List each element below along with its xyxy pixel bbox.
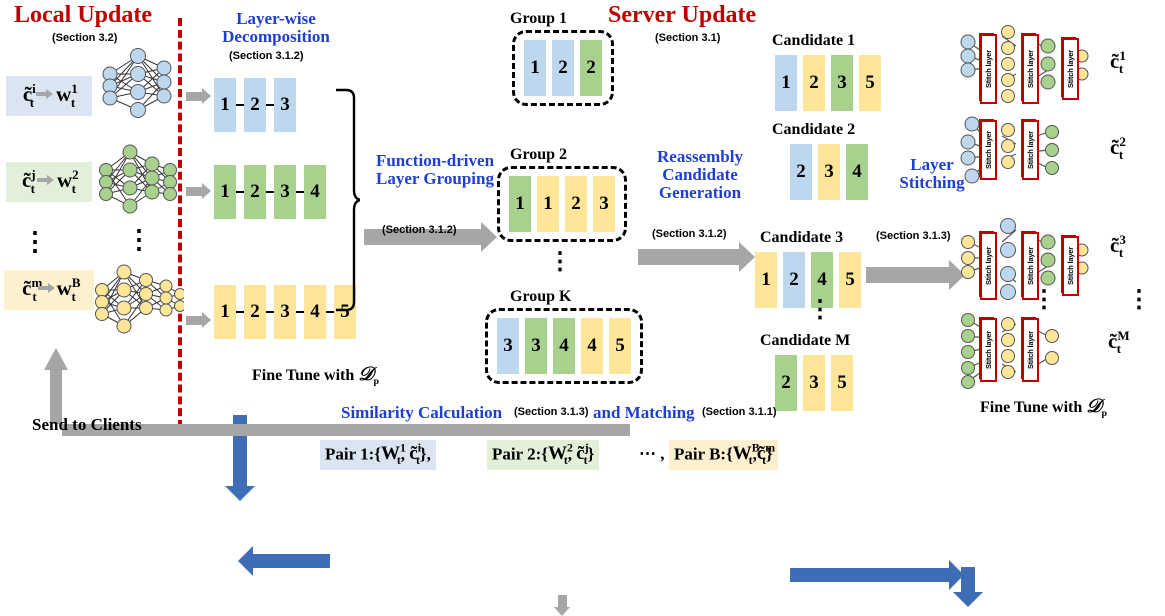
- candidate-1-title: Candidate 1: [772, 32, 855, 50]
- candidate-bar: 2: [775, 355, 797, 411]
- layer-bar: 3: [274, 285, 296, 339]
- fine-tune-right-arrow: [961, 567, 975, 593]
- stitch-layer-box: Stitch layer: [980, 318, 997, 382]
- pair-2-sep: ,: [568, 444, 577, 463]
- client-2-to-decomp-arrow: [186, 187, 202, 196]
- layer-bar: 3: [274, 78, 296, 132]
- layer-link: [236, 104, 244, 106]
- stitch-layer-label: Stitch layer: [984, 50, 993, 88]
- client-network-2: [96, 138, 180, 233]
- client-3-weight-label: wBt: [57, 275, 76, 304]
- candidate-m-title: Candidate M: [760, 332, 850, 350]
- stitched-output-vertical-ellipsis: ⋮: [1127, 296, 1151, 304]
- send-to-clients-arrow: [30, 340, 630, 455]
- fdlg-line1: Function-driven: [360, 152, 510, 170]
- stitch-layer-label: Stitch layer: [1026, 331, 1035, 369]
- stitched-output-3: c̃3t: [1110, 232, 1123, 261]
- matching-to-finetune-arrow: [790, 568, 950, 582]
- client-box-1: c̃it w1t: [6, 76, 92, 116]
- similarity-to-finetune-arrow: [252, 554, 330, 568]
- candidate-bar: 5: [831, 355, 853, 411]
- layer-bar: 1: [214, 78, 236, 132]
- layer-link: [236, 191, 244, 193]
- group-1-box: 1 2 2: [512, 30, 614, 106]
- clients-vertical-ellipsis: ⋮: [22, 238, 48, 246]
- candidate-bar: 2: [783, 252, 805, 308]
- layer-stitching-arrow: [866, 267, 950, 283]
- group-bar: 1: [524, 40, 546, 96]
- groups-vertical-ellipsis: ⋮: [548, 258, 572, 266]
- group-bar: 1: [509, 176, 531, 232]
- candidate-bar: 3: [831, 55, 853, 111]
- layer-link: [296, 191, 304, 193]
- candidate-bar: 2: [790, 144, 812, 200]
- stitch-layer-box: Stitch layer: [1022, 318, 1039, 382]
- pair-b-prefix: Pair B:{: [674, 444, 733, 463]
- layer-bar: 4: [304, 165, 326, 219]
- stitched-output-m: c̃Mt: [1108, 328, 1121, 357]
- candidate-bar: 5: [839, 252, 861, 308]
- candidate-2-title: Candidate 2: [772, 121, 855, 139]
- client-1-model-label: c̃it: [23, 81, 34, 110]
- fine-tune-right-label: Fine Tune with 𝒟p: [980, 396, 1107, 419]
- stitched-output-2: c̃2t: [1110, 134, 1123, 163]
- dataset-symbol-right: 𝒟: [1086, 396, 1101, 417]
- client-2-weight-label: w2t: [57, 167, 76, 196]
- decomposition-row-2: 1 2 3 4: [214, 165, 326, 219]
- client-3-model-label: c̃mt: [22, 275, 37, 304]
- layer-bar: 3: [274, 165, 296, 219]
- candidate-bar: 1: [755, 252, 777, 308]
- candidate-2-bars: 2 3 4: [790, 144, 868, 200]
- group-1-bars: 1 2 2: [524, 40, 602, 96]
- pair-list-ellipsis: ⋯ ,: [634, 442, 670, 466]
- reassembly-line2: Candidate: [642, 166, 758, 184]
- stitch-layer-box: Stitch layer: [980, 34, 997, 104]
- stitch-layer-box: Stitch layer: [980, 232, 997, 300]
- layer-bar: 2: [244, 78, 266, 132]
- page-title-local-update: Local Update: [14, 2, 152, 29]
- pair-box-2: Pair 2:{W2t, c̃jt}: [487, 440, 599, 470]
- client-1-to-decomp-arrow: [186, 92, 202, 101]
- client-1-weight-label: w1t: [56, 81, 75, 110]
- layer-link: [236, 311, 244, 313]
- client-box-3: c̃mt wBt: [4, 270, 94, 310]
- stitch-layer-label: Stitch layer: [984, 331, 993, 369]
- candidate-bar: 5: [859, 55, 881, 111]
- stitched-output-1: c̃1t: [1110, 48, 1123, 77]
- layer-bar: 2: [244, 285, 266, 339]
- client-box-2: c̃jt w2t: [6, 162, 92, 202]
- stitched-vertical-ellipsis: ⋮: [1032, 296, 1056, 304]
- candidates-vertical-ellipsis: ⋮: [808, 306, 832, 314]
- pair-1-sep: ,: [401, 444, 410, 463]
- stitch-layer-label: Stitch layer: [984, 131, 993, 169]
- group-2-bars: 1 1 2 3: [509, 176, 615, 232]
- group-k-title: Group K: [510, 288, 572, 306]
- layer-bar: 1: [214, 165, 236, 219]
- stitch-layer-label: Stitch layer: [1066, 247, 1075, 285]
- reassembly-line3: Generation: [642, 184, 758, 202]
- fine-tune-right-text: Fine Tune with: [980, 399, 1082, 416]
- layer-stitching-section-ref: (Section 3.1.3): [876, 230, 951, 242]
- pair-box-1: Pair 1:{W1t, c̃it},: [320, 440, 436, 470]
- decomposition-brace: [334, 88, 360, 319]
- group-bar: 1: [537, 176, 559, 232]
- pair-b-suffix: }: [766, 444, 773, 463]
- local-update-section-ref: (Section 3.2): [52, 32, 117, 44]
- pair-1-prefix: Pair 1:{: [325, 444, 381, 463]
- layer-link: [266, 104, 274, 106]
- networks-vertical-ellipsis: ⋮: [126, 236, 152, 244]
- candidate-bar: 3: [818, 144, 840, 200]
- pair-box-b: Pair B:{WBt,c̃mt}: [669, 440, 778, 470]
- group-bar: 2: [580, 40, 602, 96]
- reassembly-arrow: [638, 249, 740, 265]
- layer-bar: 2: [244, 165, 266, 219]
- client-3-to-decomp-arrow: [186, 316, 202, 325]
- layer-link: [266, 191, 274, 193]
- server-update-section-ref: (Section 3.1): [655, 32, 720, 44]
- group-2-box: 1 1 2 3: [497, 166, 627, 242]
- matching-section-ref: (Section 3.1.1): [702, 406, 777, 418]
- stitch-layer-box: Stitch layer: [1022, 34, 1039, 104]
- dataset-sub-right: p: [1101, 408, 1107, 419]
- layer-link: [296, 311, 304, 313]
- lwd-line1: Layer-wise: [211, 10, 341, 28]
- function-driven-grouping-heading: Function-driven Layer Grouping: [360, 152, 510, 188]
- stitch-layer-label: Stitch layer: [1026, 247, 1035, 285]
- client-2-inner-arrow-icon: [37, 173, 55, 191]
- reassembly-line1: Reassembly: [642, 148, 758, 166]
- client-3-inner-arrow-icon: [38, 281, 56, 299]
- candidate-bar: 2: [803, 55, 825, 111]
- layer-wise-decomposition-heading: Layer-wise Decomposition: [211, 10, 341, 46]
- pair-1-suffix: },: [420, 444, 431, 463]
- client-network-1: [98, 46, 178, 131]
- lwd-line2: Decomposition: [211, 28, 341, 46]
- candidate-1-bars: 1 2 3 5: [775, 55, 881, 111]
- reassembly-heading: Reassembly Candidate Generation: [642, 148, 758, 202]
- stitch-layer-box: Stitch layer: [1062, 38, 1079, 100]
- stitch-layer-box: Stitch layer: [980, 120, 997, 180]
- decomposition-row-1: 1 2 3: [214, 78, 296, 132]
- group-bar: 3: [593, 176, 615, 232]
- stitch-layer-label: Stitch layer: [984, 247, 993, 285]
- reassembly-section-ref: (Section 3.1.2): [652, 228, 727, 240]
- layer-link: [326, 311, 334, 313]
- layer-wise-section-ref: (Section 3.1.2): [229, 50, 304, 62]
- candidate-bar: 1: [775, 55, 797, 111]
- pair-2-prefix: Pair 2:{: [492, 444, 548, 463]
- stitch-layer-label: Stitch layer: [1066, 50, 1075, 88]
- stitch-layer-label: Stitch layer: [1026, 50, 1035, 88]
- group-bar: 2: [565, 176, 587, 232]
- fdlg-line2: Layer Grouping: [360, 170, 510, 188]
- function-driven-section-ref: (Section 3.1.2): [382, 224, 457, 236]
- candidate-m-bars: 2 3 5: [775, 355, 853, 411]
- candidate-bar: 4: [846, 144, 868, 200]
- page-title-server-update: Server Update: [608, 2, 756, 29]
- similarity-to-pairs-arrow: [558, 595, 567, 607]
- group-2-title: Group 2: [510, 146, 567, 164]
- stitch-layer-label: Stitch layer: [1026, 131, 1035, 169]
- stitch-layer-box: Stitch layer: [1022, 120, 1039, 180]
- group-bar: 2: [552, 40, 574, 96]
- client-1-inner-arrow-icon: [36, 87, 54, 105]
- candidate-3-title: Candidate 3: [760, 229, 843, 247]
- group-1-title: Group 1: [510, 10, 567, 28]
- layer-link: [266, 311, 274, 313]
- layer-bar: 4: [304, 285, 326, 339]
- client-network-3: [92, 254, 184, 351]
- pair-2-suffix: }: [588, 444, 595, 463]
- send-to-clients-label: Send to Clients: [32, 415, 142, 435]
- candidate-bar: 3: [803, 355, 825, 411]
- client-2-model-label: c̃jt: [22, 167, 35, 196]
- stitch-layer-box: Stitch layer: [1062, 236, 1079, 296]
- layer-bar: 1: [214, 285, 236, 339]
